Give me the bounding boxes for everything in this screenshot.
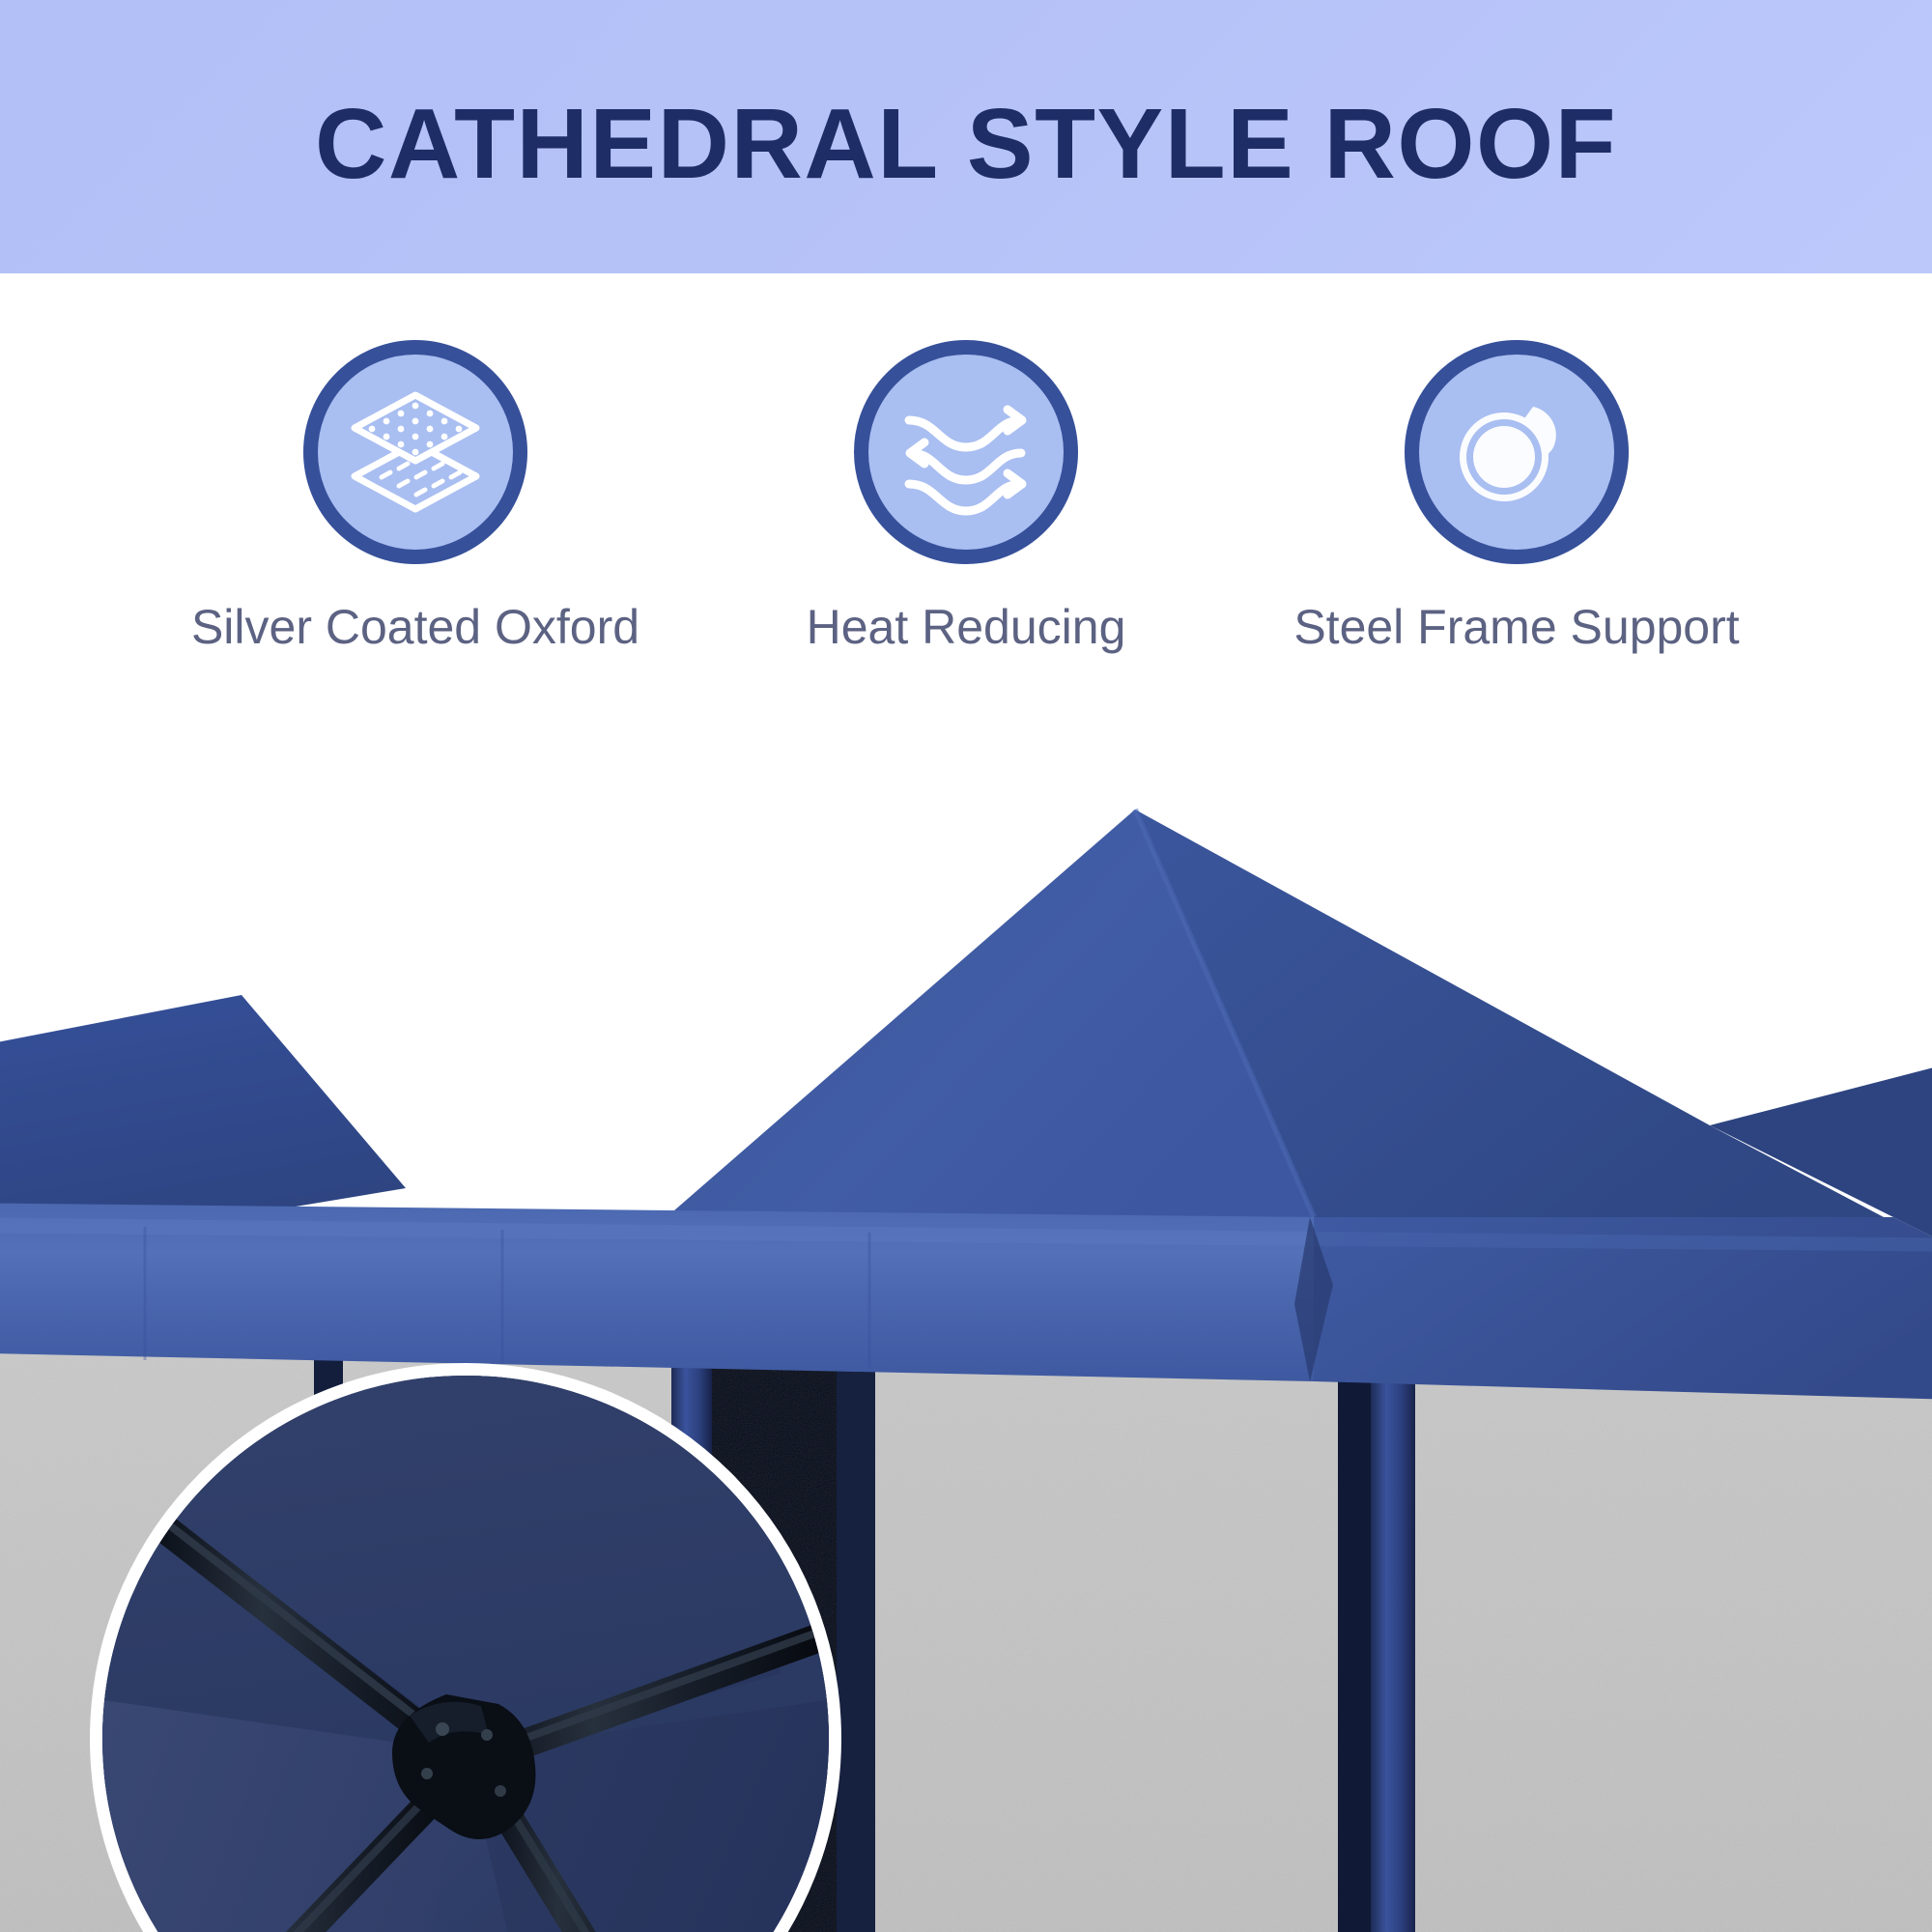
feature-label: Steel Frame Support — [1293, 601, 1739, 654]
feature-item-silver-coated-oxford: Silver Coated Oxford — [145, 340, 686, 654]
feature-icon-circle — [854, 340, 1078, 564]
airflow-waves-icon — [894, 380, 1038, 525]
infographic-canvas: CATHEDRAL STYLE ROOF — [0, 0, 1932, 1932]
canopy-underside-frame-detail — [102, 1376, 829, 1932]
feature-item-steel-frame-support: Steel Frame Support — [1246, 340, 1787, 654]
feature-item-heat-reducing: Heat Reducing — [696, 340, 1236, 654]
fabric-layers-icon — [343, 380, 488, 525]
page-title: CATHEDRAL STYLE ROOF — [0, 0, 1932, 273]
feature-row: Silver Coated Oxford — [145, 340, 1787, 707]
feature-label: Heat Reducing — [807, 601, 1126, 654]
canopy-frame-detail-magnifier — [90, 1363, 841, 1932]
feature-label: Silver Coated Oxford — [191, 601, 639, 654]
steel-tube-icon — [1444, 380, 1589, 525]
feature-icon-circle — [1405, 340, 1629, 564]
feature-icon-circle — [303, 340, 527, 564]
product-photo — [0, 763, 1932, 1932]
header-banner: CATHEDRAL STYLE ROOF — [0, 0, 1932, 273]
